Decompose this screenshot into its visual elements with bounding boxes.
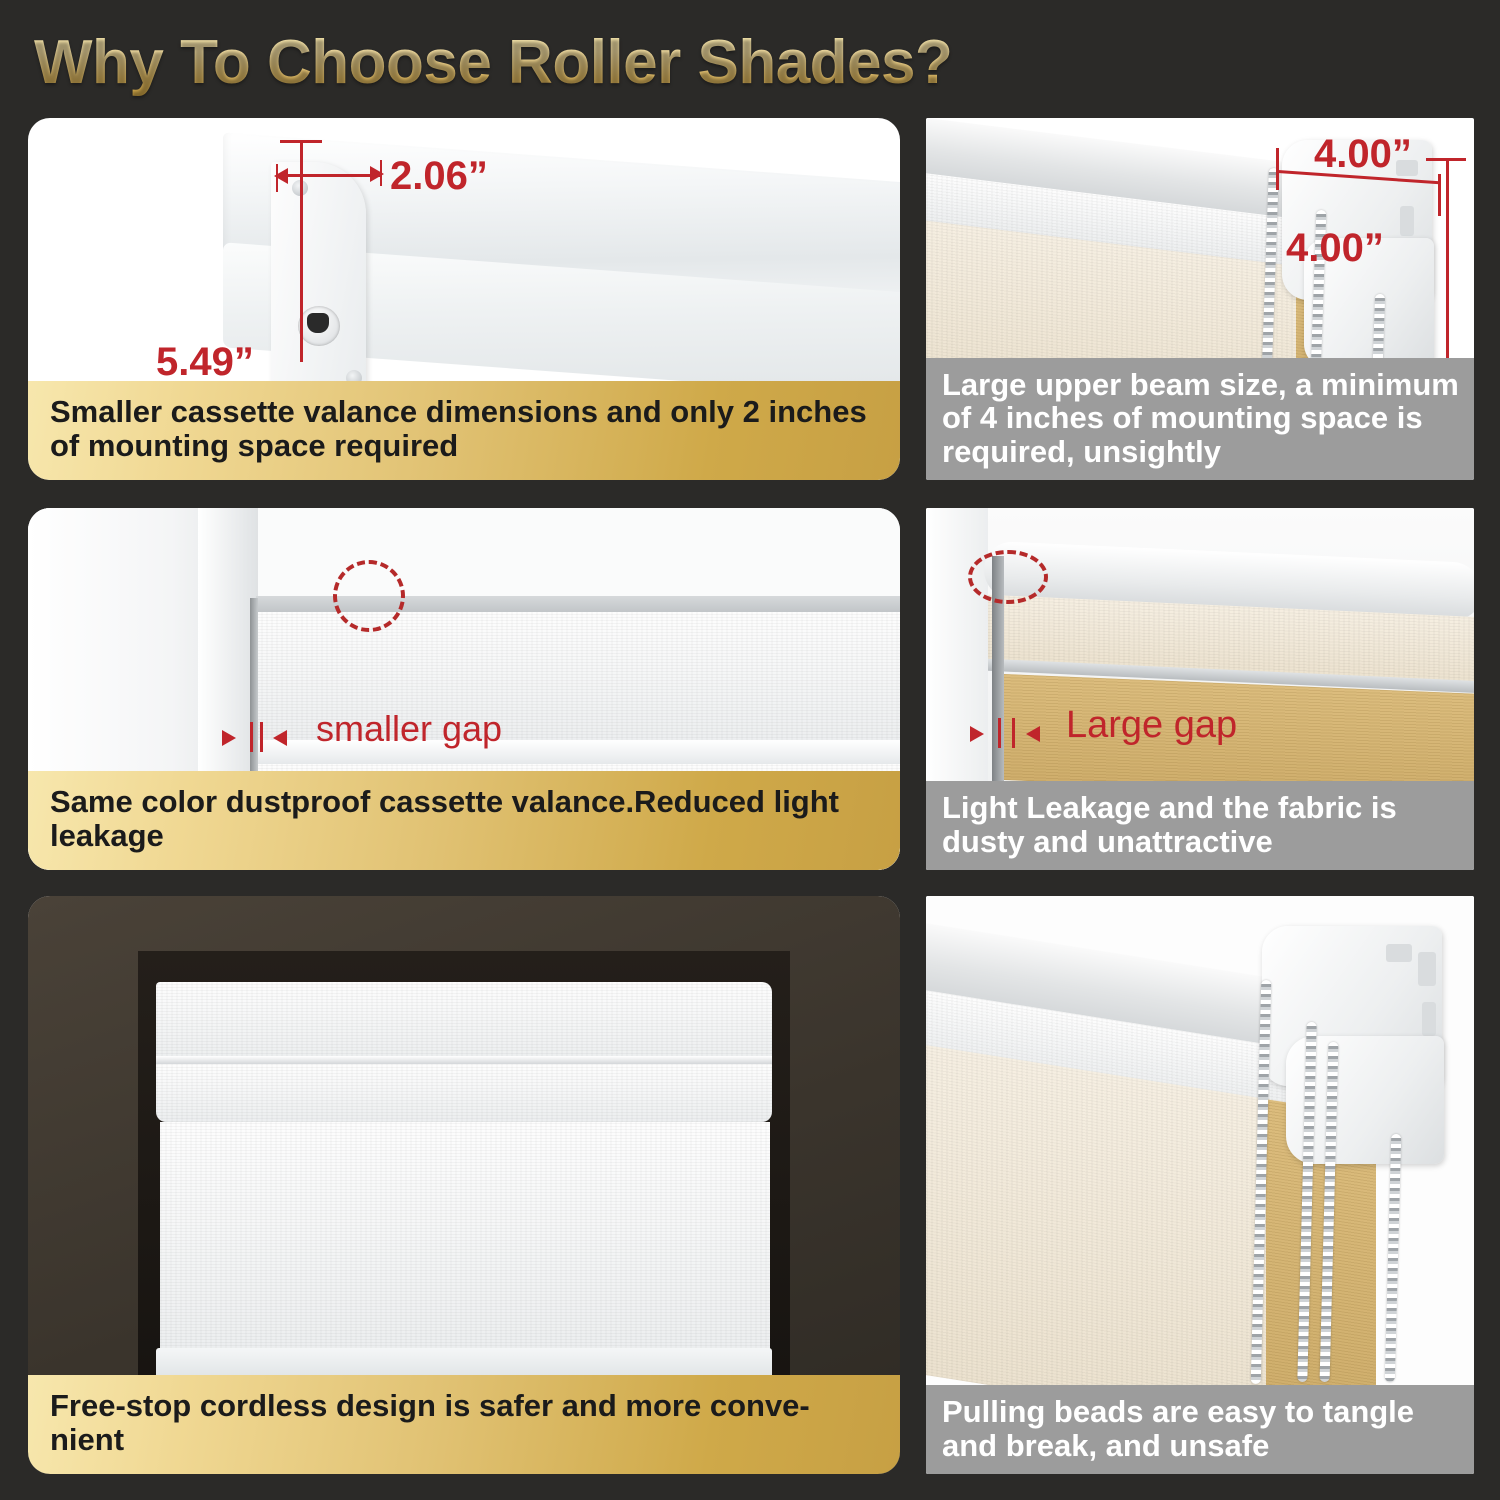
- shade-fabric: [160, 1122, 770, 1352]
- caption-pulling-beads: Pulling beads are easy to tangle and bre…: [926, 1385, 1474, 1474]
- caption-smaller-cassette-valance: Smaller cassette valance dimensions and …: [28, 381, 900, 480]
- end-cap-slot-1: [1386, 944, 1412, 962]
- panel-dustproof-cassette-valance: smaller gap Same color dustproof cassett…: [28, 508, 900, 870]
- panel-pulling-beads: Pulling beads are easy to tangle and bre…: [926, 896, 1474, 1474]
- page-title: Why To Choose Roller Shades?: [34, 22, 1134, 102]
- gap-tick-left: [250, 722, 253, 752]
- height-dimension-label: 5.49”: [156, 340, 254, 385]
- end-cap-slot-2: [1400, 206, 1414, 236]
- gap-tick-right: [1012, 718, 1015, 748]
- caption-free-stop-cordless: Free-stop cordless design is safer and m…: [28, 1375, 900, 1474]
- end-cap-slot-2: [1418, 952, 1436, 986]
- gap-arrow-left-icon: [273, 730, 287, 746]
- valance-lower-roll: [156, 1064, 772, 1122]
- beam-width-label: 4.00”: [1314, 132, 1412, 177]
- cassette-valance: [156, 982, 772, 1060]
- panel-free-stop-cordless: Free-stop cordless design is safer and m…: [28, 896, 900, 1474]
- gap-tick-left: [998, 718, 1001, 748]
- width-dim-arrow-right-icon: [370, 166, 384, 182]
- highlight-circle-gap-icon: [968, 550, 1048, 604]
- end-cap-slot-3: [1422, 1002, 1436, 1036]
- page-title-text: Why To Choose Roller Shades?: [34, 27, 952, 98]
- width-dimension-label: 2.06”: [390, 154, 488, 199]
- end-cap-bracket-knob: [298, 306, 340, 346]
- width-dim-line: [278, 174, 382, 177]
- gap-arrow-right-icon: [970, 726, 984, 742]
- gap-arrow-left-icon: [1026, 726, 1040, 742]
- height-dim-line-upper: [300, 140, 303, 362]
- gap-tick-right: [260, 722, 263, 752]
- height-dim-tick-top: [280, 140, 322, 143]
- panel-smaller-cassette-valance: 2.06” 5.49” Smaller cassette valance dim…: [28, 118, 900, 480]
- smaller-gap-label: smaller gap: [316, 708, 502, 750]
- width-dim-arrow-left-icon: [274, 168, 288, 184]
- caption-light-leakage: Light Leakage and the fabric is dusty an…: [926, 781, 1474, 870]
- caption-large-upper-beam: Large upper beam size, a minimum of 4 in…: [926, 358, 1474, 480]
- panel-large-upper-beam: 4.00” 4.00” Large upper beam size, a min…: [926, 118, 1474, 480]
- panel-light-leakage: Large gap Light Leakage and the fabric i…: [926, 508, 1474, 870]
- large-gap-label: Large gap: [1066, 704, 1237, 747]
- highlight-circle-gap-icon: [333, 560, 405, 632]
- gap-arrow-right-icon: [222, 730, 236, 746]
- beam-height-label: 4.00”: [1286, 226, 1384, 271]
- beam-height-tick-top: [1426, 158, 1466, 161]
- fabric-cream-main: [926, 1039, 1306, 1436]
- caption-dustproof-cassette-valance: Same color dustproof cassette valance.Re…: [28, 771, 900, 870]
